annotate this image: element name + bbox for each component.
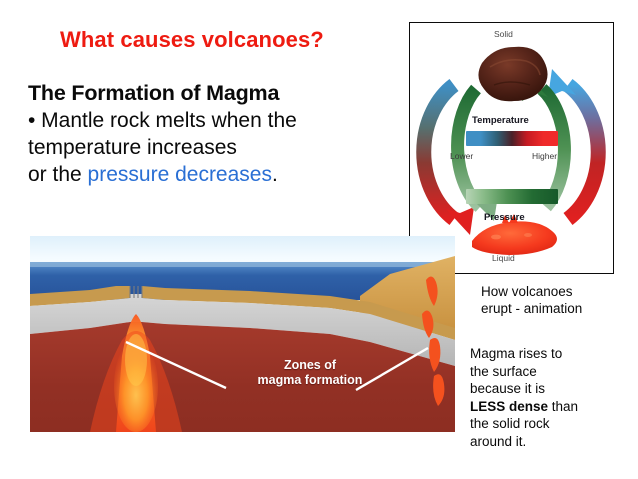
diagram-label-lower: Lower xyxy=(450,151,473,161)
less-dense-emphasis: LESS dense xyxy=(470,399,548,414)
solid-rock-icon xyxy=(478,47,547,101)
magma-caption-line-1: Magma rises to xyxy=(470,345,635,363)
temperature-gradient-bar xyxy=(466,131,558,146)
bullet-line-3-suffix: . xyxy=(272,163,278,186)
animation-caption: How volcanoes erupt - animation xyxy=(481,283,631,317)
cross-section-graphic xyxy=(30,236,455,437)
diagram-label-liquid: Liquid xyxy=(492,253,515,263)
page-title: What causes volcanoes? xyxy=(60,27,324,53)
diagram-label-temperature: Temperature xyxy=(472,115,529,126)
diagram-label-pressure: Pressure xyxy=(484,212,525,223)
magma-caption-line-2: the surface xyxy=(470,363,635,381)
animation-caption-line-2: erupt - animation xyxy=(481,300,631,317)
body-heading: The Formation of Magma xyxy=(28,80,368,107)
magma-caption-line-6: around it. xyxy=(470,433,635,451)
body-text-block: The Formation of Magma • Mantle rock mel… xyxy=(28,80,368,188)
bullet-line-3: or the pressure decreases. xyxy=(28,161,368,188)
bullet-line-1: • Mantle rock melts when the xyxy=(28,107,368,134)
magma-caption-line-4-rest: than xyxy=(548,399,578,414)
magma-caption-line-4: LESS dense than xyxy=(470,398,635,416)
bullet-line-2: temperature increases xyxy=(28,134,368,161)
diagram-label-higher: Higher xyxy=(532,151,557,161)
magma-density-caption: Magma rises to the surface because it is… xyxy=(470,345,635,450)
diagram-label-solid: Solid xyxy=(494,29,513,39)
magma-caption-line-3: because it is xyxy=(470,380,635,398)
pressure-gradient-bar xyxy=(466,189,558,204)
magma-caption-line-5: the solid rock xyxy=(470,415,635,433)
bullet-line-3-prefix: or the xyxy=(28,163,88,186)
pressure-decreases-emphasis: pressure decreases xyxy=(88,163,272,186)
ocean-crust-cross-section-image xyxy=(30,236,455,437)
animation-caption-line-1: How volcanoes xyxy=(481,283,631,300)
